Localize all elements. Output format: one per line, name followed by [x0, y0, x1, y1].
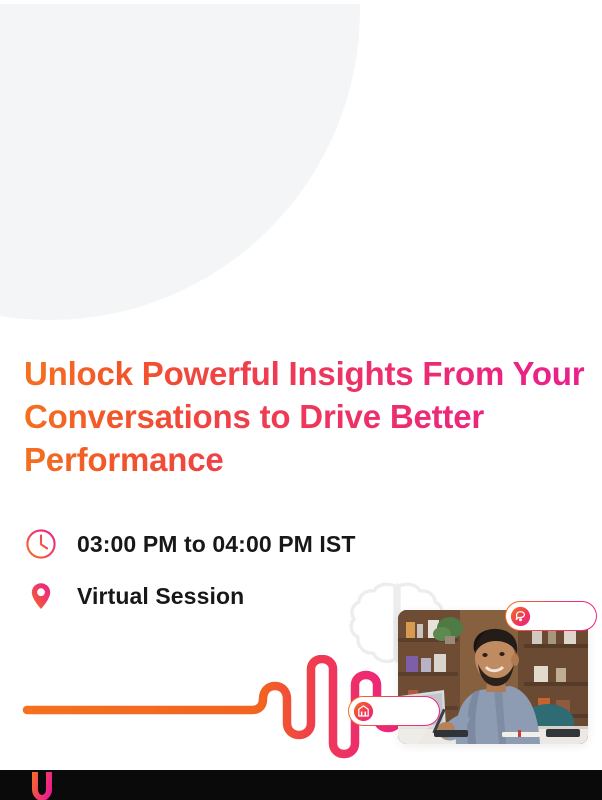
corner-wedge-decoration — [0, 0, 360, 320]
chat-bubble-icon — [510, 606, 531, 627]
detail-time-label: 03:00 PM to 04:00 PM IST — [77, 531, 356, 558]
clock-icon — [24, 527, 58, 561]
analytics-icon — [353, 701, 374, 722]
page-title: Unlock Powerful Insights From Your Conve… — [24, 352, 590, 481]
webinar-banner: Unlock Powerful Insights From Your Conve… — [0, 0, 602, 800]
detail-row-time: 03:00 PM to 04:00 PM IST — [24, 527, 356, 561]
badge-pill-top[interactable] — [505, 601, 597, 631]
location-pin-icon — [24, 579, 58, 613]
audio-waveform-icon — [0, 655, 400, 765]
corner-wedge-mask — [0, 0, 602, 4]
detail-row-location: Virtual Session — [24, 579, 244, 613]
u-logo-icon[interactable] — [29, 770, 55, 800]
badge-pill-bottom[interactable] — [348, 696, 440, 726]
detail-location-label: Virtual Session — [77, 583, 244, 610]
footer-bar — [0, 770, 602, 800]
